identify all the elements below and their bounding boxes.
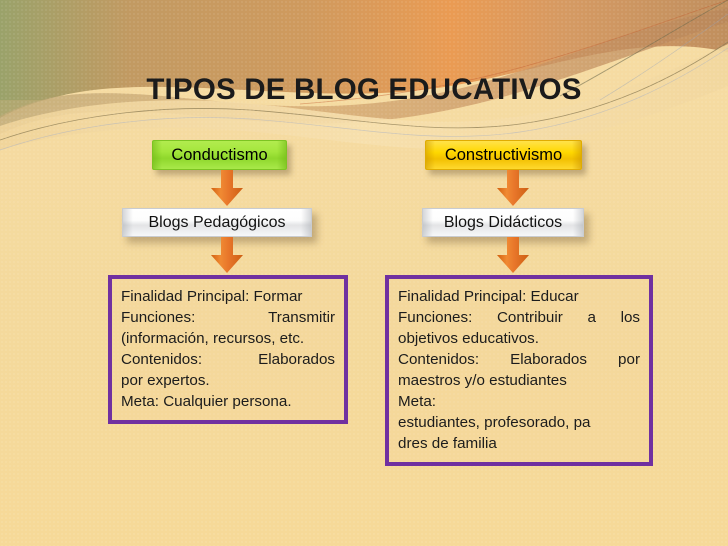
detail-line: Meta: Cualquier persona.: [121, 391, 335, 412]
details-panel-right: Finalidad Principal: Educar Funciones: C…: [385, 275, 653, 466]
branch-right: Constructivismo Blogs Didácticos Finalid…: [385, 140, 653, 466]
down-arrow-icon: [203, 170, 348, 208]
detail-line: objetivos educativos.: [398, 328, 640, 349]
detail-line: Contenidos: Elaborados: [121, 349, 335, 370]
detail-line: Meta:: [398, 391, 640, 412]
detail-line: Contenidos: Elaborados por: [398, 349, 640, 370]
detail-line: Funciones: Transmitir: [121, 307, 335, 328]
detail-line: estudiantes, profesorado, pa: [398, 412, 640, 433]
page-title: TIPOS DE BLOG EDUCATIVOS: [0, 73, 728, 107]
node-blogs-didacticos-label: Blogs Didácticos: [444, 214, 562, 231]
branch-left: Conductismo Blogs Pedagógicos: [108, 140, 348, 424]
node-blogs-didacticos[interactable]: Blogs Didácticos: [422, 208, 584, 237]
down-arrow-icon: [203, 237, 348, 275]
detail-line: por expertos.: [121, 370, 335, 391]
node-conductismo-label: Conductismo: [171, 146, 267, 164]
node-constructivismo[interactable]: Constructivismo: [425, 140, 582, 170]
down-arrow-icon: [489, 170, 653, 208]
node-conductismo[interactable]: Conductismo: [152, 140, 287, 170]
detail-line: maestros y/o estudiantes: [398, 370, 640, 391]
detail-line: Funciones: Contribuir a los: [398, 307, 640, 328]
detail-line: Finalidad Principal: Educar: [398, 286, 640, 307]
node-blogs-pedagogicos[interactable]: Blogs Pedagógicos: [122, 208, 312, 237]
node-blogs-pedagogicos-label: Blogs Pedagógicos: [149, 214, 286, 231]
detail-line: dres de familia: [398, 433, 640, 454]
details-panel-left: Finalidad Principal: Formar Funciones: T…: [108, 275, 348, 424]
slide-canvas: TIPOS DE BLOG EDUCATIVOS Conductismo B: [0, 0, 728, 546]
down-arrow-icon: [489, 237, 653, 275]
detail-line: (información, recursos, etc.: [121, 328, 335, 349]
node-constructivismo-label: Constructivismo: [445, 146, 562, 164]
detail-line: Finalidad Principal: Formar: [121, 286, 335, 307]
